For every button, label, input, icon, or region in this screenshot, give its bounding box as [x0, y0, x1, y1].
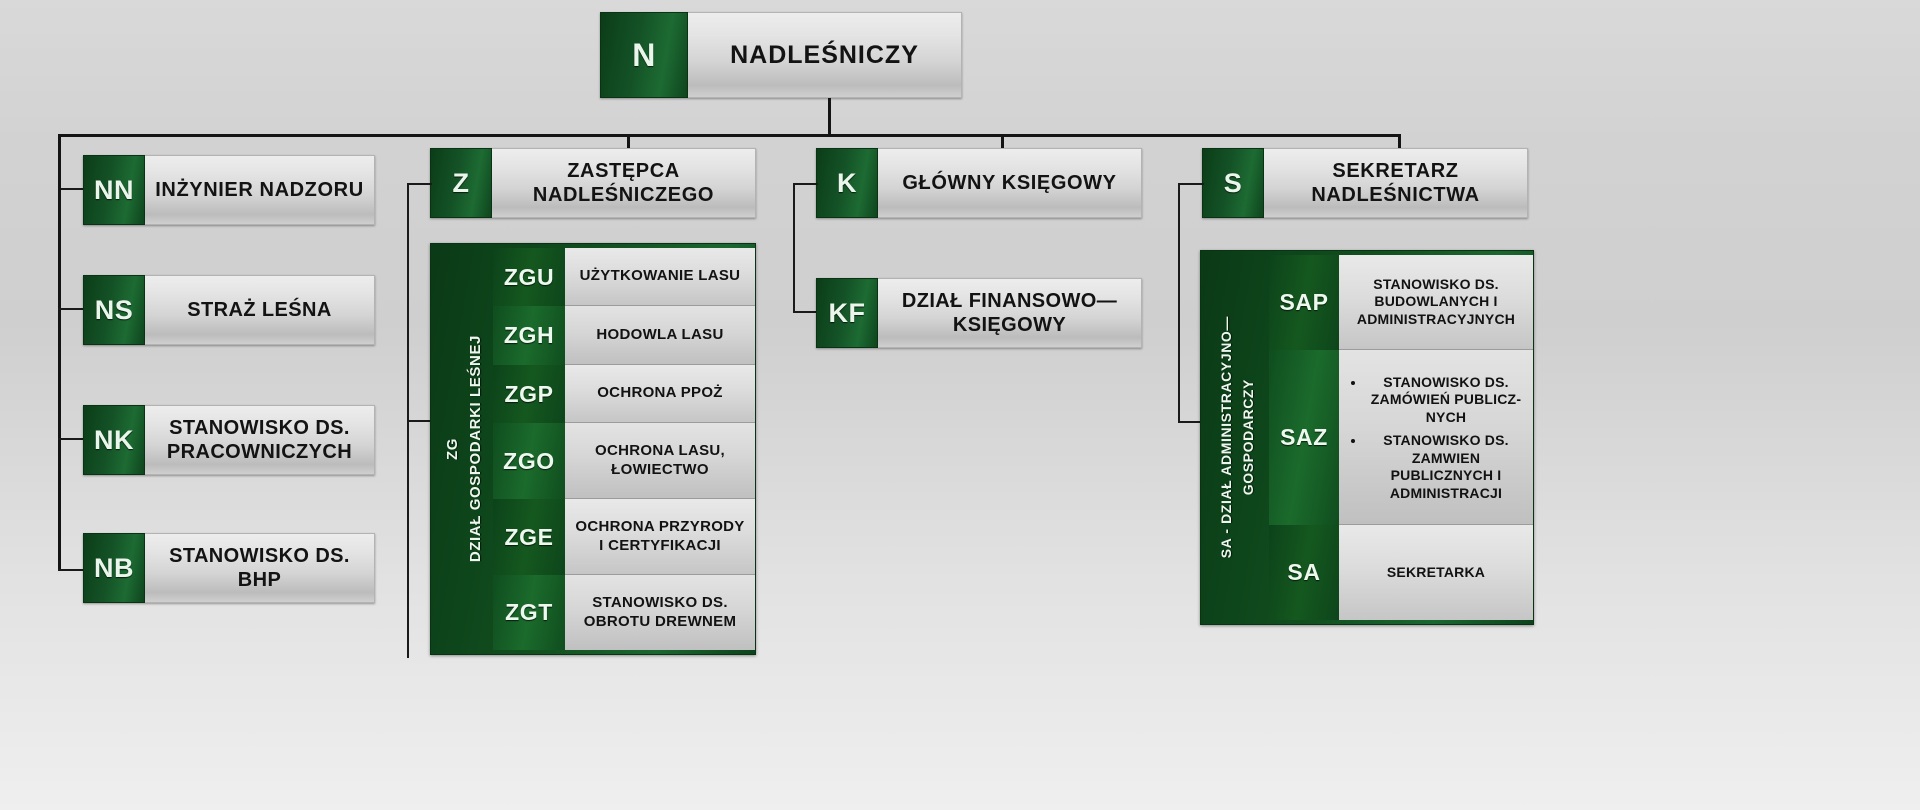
row-code: ZGP [493, 365, 565, 423]
department-name: GOSPODARCZY [1240, 379, 1256, 495]
node-label: STRAŻ LEŚNA [145, 275, 375, 345]
department-vertical-label: ZG DZIAŁ GOSPODARKI LEŚNEJ [435, 248, 493, 650]
row-code: ZGE [493, 499, 565, 575]
node-zastepca-nadlesniczego[interactable]: Z ZASTĘPCA NADLEŚNICZEGO [430, 148, 756, 218]
node-label: STANOWISKO DS. BHP [145, 533, 375, 603]
row-label: OCHRONA LASU, ŁOWIECTWO [565, 423, 755, 499]
connector-left-spine [58, 188, 61, 571]
connector-elbow-pracowniczych [58, 438, 85, 440]
list-item: STANOWISKO DS. ZAMÓWIEŃ PUBLICZ-NYCH [1366, 374, 1526, 427]
node-stanowisko-ds-pracowniczych[interactable]: NK STANOWISKO DS. PRACOWNICZYCH [83, 405, 375, 475]
department-row[interactable]: ZGO OCHRONA LASU, ŁOWIECTWO [493, 423, 755, 499]
department-name: DZIAŁ GOSPODARKI LEŚNEJ [467, 335, 484, 562]
department-row[interactable]: ZGT STANOWISKO DS. OBROTU DREWNEM [493, 575, 755, 650]
row-label: STANOWISKO DS. OBROTU DREWNEM [565, 575, 755, 650]
row-code: ZGO [493, 423, 565, 499]
row-label: OCHRONA PPOŻ [565, 365, 755, 423]
connector-ksiegowy-spine [793, 183, 795, 313]
node-code-chip: NS [83, 275, 145, 345]
row-code: ZGU [493, 248, 565, 306]
connector-elbow-straz [58, 308, 85, 310]
node-label: DZIAŁ FINANSOWO— KSIĘGOWY [878, 278, 1142, 348]
department-row[interactable]: ZGH HODOWLA LASU [493, 306, 755, 364]
node-dzial-finansowo-ksiegowy[interactable]: KF DZIAŁ FINANSOWO— KSIĘGOWY [816, 278, 1142, 348]
connector-elbow-bhp [58, 569, 85, 571]
department-row[interactable]: ZGU UŻYTKOWANIE LASU [493, 248, 755, 306]
row-label: SEKRETARKA [1339, 525, 1533, 620]
connector-elbow-ksiegowy [793, 183, 818, 185]
node-label: GŁÓWNY KSIĘGOWY [878, 148, 1142, 218]
connector-drop-inzynier [58, 134, 61, 190]
row-bullet-list: STANOWISKO DS. ZAMÓWIEŃ PUBLICZ-NYCH STA… [1346, 372, 1526, 503]
department-row[interactable]: SAP STANOWISKO DS. BUDOWLANYCH I ADMINIS… [1269, 255, 1533, 350]
department-gospodarki-lesnej[interactable]: ZG DZIAŁ GOSPODARKI LEŚNEJ ZGU UŻYTKOWAN… [430, 243, 756, 655]
node-code-chip: N [600, 12, 688, 98]
connector-elbow-zastepca [407, 183, 432, 185]
row-code: SAZ [1269, 350, 1339, 525]
row-code: ZGH [493, 306, 565, 364]
row-code: SAP [1269, 255, 1339, 350]
row-label: STANOWISKO DS. BUDOWLANYCH I ADMINISTRAC… [1339, 255, 1533, 350]
department-code: SA - DZIAŁ ADMINISTRACYJNO— [1218, 316, 1234, 558]
row-label-list: STANOWISKO DS. ZAMÓWIEŃ PUBLICZ-NYCH STA… [1339, 350, 1533, 525]
node-nadlesniczy[interactable]: N NADLEŚNICZY [600, 12, 962, 98]
node-code-chip: K [816, 148, 878, 218]
node-code-chip: KF [816, 278, 878, 348]
row-label: OCHRONA PRZYRODY I CERTYFIKACJI [565, 499, 755, 575]
node-code-chip: NB [83, 533, 145, 603]
connector-elbow-sekretarz [1178, 183, 1204, 185]
row-label: HODOWLA LASU [565, 306, 755, 364]
connector-elbow-dzial-zg [407, 420, 432, 422]
node-label: STANOWISKO DS. PRACOWNICZYCH [145, 405, 375, 475]
department-row[interactable]: SA SEKRETARKA [1269, 525, 1533, 620]
node-inzynier-nadzoru[interactable]: NN INŻYNIER NADZORU [83, 155, 375, 225]
node-glowny-ksiegowy[interactable]: K GŁÓWNY KSIĘGOWY [816, 148, 1142, 218]
node-label: INŻYNIER NADZORU [145, 155, 375, 225]
row-code: ZGT [493, 575, 565, 650]
department-row[interactable]: SAZ STANOWISKO DS. ZAMÓWIEŃ PUBLICZ-NYCH… [1269, 350, 1533, 525]
department-rows: SAP STANOWISKO DS. BUDOWLANYCH I ADMINIS… [1269, 255, 1533, 620]
node-label: SEKRETARZ NADLEŚNICTWA [1264, 148, 1528, 218]
department-administracyjno-gospodarczy[interactable]: SA - DZIAŁ ADMINISTRACYJNO— GOSPODARCZY … [1200, 250, 1534, 625]
connector-elbow-inzynier [58, 188, 85, 190]
department-vertical-label: SA - DZIAŁ ADMINISTRACYJNO— GOSPODARCZY [1205, 255, 1269, 620]
org-chart: N NADLEŚNICZY NN INŻYNIER NADZORU Z ZAST… [0, 0, 1920, 810]
node-label: NADLEŚNICZY [688, 12, 962, 98]
node-label: ZASTĘPCA NADLEŚNICZEGO [492, 148, 756, 218]
department-code: ZG [444, 438, 461, 460]
node-straz-lesna[interactable]: NS STRAŻ LEŚNA [83, 275, 375, 345]
node-code-chip: S [1202, 148, 1264, 218]
node-stanowisko-ds-bhp[interactable]: NB STANOWISKO DS. BHP [83, 533, 375, 603]
node-sekretarz-nadlesnictwa[interactable]: S SEKRETARZ NADLEŚNICTWA [1202, 148, 1528, 218]
department-rows: ZGU UŻYTKOWANIE LASU ZGH HODOWLA LASU ZG… [493, 248, 755, 650]
node-code-chip: Z [430, 148, 492, 218]
connector-sekretarz-spine [1178, 183, 1180, 423]
row-code: SA [1269, 525, 1339, 620]
node-code-chip: NK [83, 405, 145, 475]
list-item: STANOWISKO DS. ZAMWIEN PUBLICZNYCH I ADM… [1366, 432, 1526, 502]
connector-level2-bus [58, 134, 1400, 137]
connector-elbow-finansowo [793, 311, 818, 313]
department-row[interactable]: ZGP OCHRONA PPOŻ [493, 365, 755, 423]
connector-root-stem [828, 98, 831, 136]
node-code-chip: NN [83, 155, 145, 225]
department-row[interactable]: ZGE OCHRONA PRZYRODY I CERTYFIKACJI [493, 499, 755, 575]
row-label: UŻYTKOWANIE LASU [565, 248, 755, 306]
